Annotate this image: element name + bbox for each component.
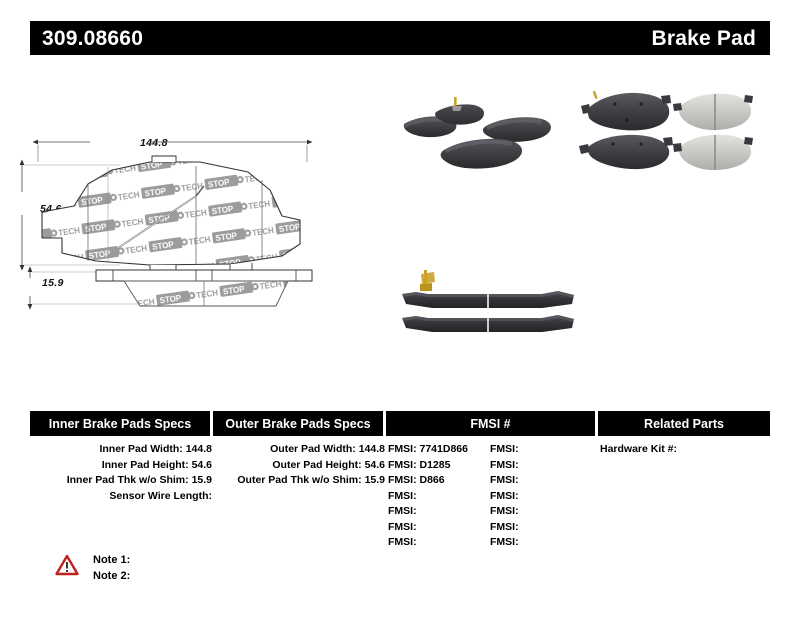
spec-sheet: 309.08660 Brake Pad 144.8 54.6 15.9 STOP… (0, 0, 800, 619)
hardware-kit-label: Hardware Kit #: (600, 443, 677, 455)
inner-specs-column: Inner Pad Width: 144.8 Inner Pad Height:… (30, 442, 212, 504)
product-photo-top-down (575, 82, 755, 182)
fmsi-row: FMSI: (490, 442, 592, 458)
spec-value: 15.9 (192, 474, 212, 486)
fmsi-row: FMSI: (490, 535, 592, 551)
fmsi-row: FMSI: (388, 535, 490, 551)
warning-triangle-icon (55, 554, 79, 576)
note-item-1: Note 1: (93, 552, 130, 568)
header-bar: 309.08660 Brake Pad (30, 21, 770, 55)
fmsi-label: FMSI: (388, 505, 417, 517)
spec-label: Inner Pad Height: (102, 459, 192, 471)
spec-value: 144.8 (359, 443, 385, 455)
fmsi-label: FMSI: (388, 536, 417, 548)
fmsi-label: FMSI: (388, 459, 420, 471)
notes-list: Note 1: Note 2: (93, 552, 130, 584)
spec-row: Outer Pad Width: 144.8 (215, 442, 385, 458)
fmsi-label: FMSI: (388, 474, 420, 486)
fmsi-row: FMSI: D866 (388, 473, 490, 489)
fmsi-label: FMSI: (490, 536, 519, 548)
specs-table-body: Inner Pad Width: 144.8 Inner Pad Height:… (30, 436, 770, 556)
product-type: Brake Pad (651, 28, 770, 49)
pad-front-view (42, 156, 300, 272)
fmsi-label: FMSI: (388, 443, 420, 455)
notes-section: Note 1: Note 2: (55, 552, 130, 584)
part-number: 309.08660 (30, 28, 143, 49)
related-parts-column: Hardware Kit #: (600, 442, 770, 458)
fmsi-label: FMSI: (388, 521, 417, 533)
spec-label: Sensor Wire Length: (109, 490, 212, 502)
fmsi-value: D866 (420, 474, 445, 486)
fmsi-label: FMSI: (388, 490, 417, 502)
fmsi-sub-column-left: FMSI: 7741D866 FMSI: D1285 FMSI: D866 (388, 442, 490, 551)
fmsi-label: FMSI: (490, 459, 519, 471)
spec-value: 54.6 (192, 459, 212, 471)
product-photo-edge (392, 264, 587, 344)
spec-label: Outer Pad Width: (270, 443, 359, 455)
fmsi-label: FMSI: (490, 505, 519, 517)
header-related-parts: Related Parts (598, 411, 770, 436)
header-fmsi: FMSI # (386, 411, 595, 436)
related-parts-row: Hardware Kit #: (600, 442, 770, 458)
fmsi-sub-column-right: FMSI: FMSI: FMSI: FMSI: (490, 442, 592, 551)
fmsi-row: FMSI: (490, 504, 592, 520)
spec-row: Outer Pad Thk w/o Shim: 15.9 (215, 473, 385, 489)
header-inner-brake-pads-specs: Inner Brake Pads Specs (30, 411, 210, 436)
fmsi-row: FMSI: 7741D866 (388, 442, 490, 458)
outer-specs-column: Outer Pad Width: 144.8 Outer Pad Height:… (215, 442, 385, 489)
note-item-2: Note 2: (93, 568, 130, 584)
specs-table-header-row: Inner Brake Pads Specs Outer Brake Pads … (30, 411, 770, 436)
fmsi-label: FMSI: (490, 474, 519, 486)
fmsi-row: FMSI: (388, 504, 490, 520)
pad-edge-view (30, 270, 312, 306)
fmsi-label: FMSI: (490, 443, 519, 455)
fmsi-column: FMSI: 7741D866 FMSI: D1285 FMSI: D866 (388, 442, 598, 551)
fmsi-row: FMSI: (490, 520, 592, 536)
fmsi-row: FMSI: D1285 (388, 458, 490, 474)
spec-value: 144.8 (186, 443, 212, 455)
spec-label: Outer Pad Thk w/o Shim: (237, 474, 364, 486)
fmsi-label: FMSI: (490, 490, 519, 502)
spec-label: Inner Pad Width: (99, 443, 185, 455)
spec-row: Inner Pad Thk w/o Shim: 15.9 (30, 473, 212, 489)
specs-table: Inner Brake Pads Specs Outer Brake Pads … (30, 411, 770, 556)
fmsi-row: FMSI: (388, 489, 490, 505)
fmsi-label: FMSI: (490, 521, 519, 533)
fmsi-row: FMSI: (388, 520, 490, 536)
fmsi-row: FMSI: (490, 489, 592, 505)
spec-label: Inner Pad Thk w/o Shim: (67, 474, 192, 486)
spec-label: Outer Pad Height: (272, 459, 364, 471)
spec-value: 15.9 (365, 474, 385, 486)
fmsi-value: D1285 (420, 459, 451, 471)
spec-value: 54.6 (365, 459, 385, 471)
header-outer-brake-pads-specs: Outer Brake Pads Specs (213, 411, 383, 436)
spec-row: Sensor Wire Length: (30, 489, 212, 505)
fmsi-row: FMSI: (490, 458, 592, 474)
spec-row: Inner Pad Width: 144.8 (30, 442, 212, 458)
spec-row: Outer Pad Height: 54.6 (215, 458, 385, 474)
product-photo-angled (400, 88, 575, 173)
spec-row: Inner Pad Height: 54.6 (30, 458, 212, 474)
fmsi-value: 7741D866 (420, 443, 468, 455)
fmsi-row: FMSI: (490, 473, 592, 489)
